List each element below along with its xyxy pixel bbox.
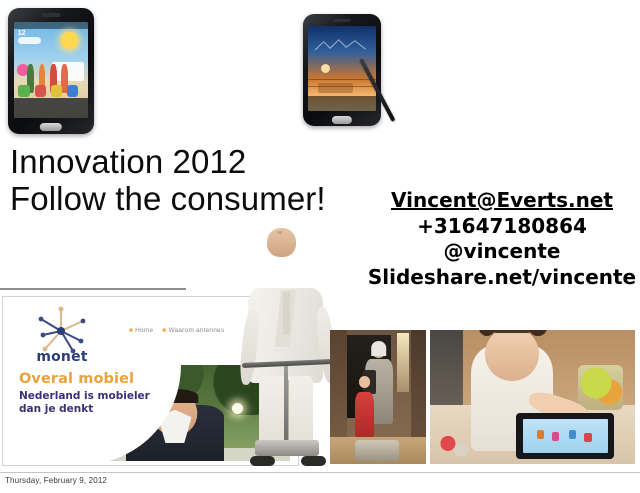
letter-tile <box>552 432 560 441</box>
phone-body: 12 <box>8 8 94 134</box>
man-on-segway-cutout <box>240 228 336 466</box>
nav-item-waarom-antennes-label: Waarom antennes <box>168 327 224 334</box>
samsung-galaxy-s2-image: 12 <box>8 8 94 134</box>
app-icon <box>51 85 62 96</box>
contact-block: Vincent@Everts.net +31647180864 @vincent… <box>356 188 640 290</box>
child-figure <box>355 392 374 438</box>
contact-twitter[interactable]: @vincente <box>356 239 640 265</box>
samsung-galaxy-note-image <box>303 14 381 126</box>
app-icon <box>67 85 78 96</box>
app-icon <box>18 85 29 96</box>
monet-headline: Overal mobiel <box>19 371 134 387</box>
sun-shape <box>321 64 330 73</box>
segway-wheel-right <box>301 456 326 466</box>
head-shape <box>359 376 371 388</box>
title-line-2: Follow the consumer! <box>10 180 390 217</box>
window-light <box>397 333 409 392</box>
bullet-icon: ■ <box>162 327 166 334</box>
white-hair <box>371 341 387 355</box>
nav-item-waarom-antennes[interactable]: ■Waarom antennes <box>162 327 224 334</box>
footer-divider <box>0 472 640 473</box>
head-shape <box>485 330 539 381</box>
segway-platform <box>255 440 318 457</box>
nav-item-home[interactable]: ■Home <box>129 327 155 334</box>
wallpaper-beach: 12 <box>14 22 88 118</box>
app-dock <box>308 96 375 111</box>
title-line-1: Innovation 2012 <box>10 143 390 180</box>
toy-object <box>578 365 623 411</box>
segway-stem <box>284 366 288 442</box>
app-icon <box>35 85 46 96</box>
cloud-shape <box>18 37 40 44</box>
monet-brand-text: monet <box>27 349 97 365</box>
photo-man-child-segway <box>330 330 426 464</box>
contact-slideshare[interactable]: Slideshare.net/vincente <box>356 265 640 291</box>
footer-date: Thursday, February 9, 2012 <box>5 476 107 485</box>
letter-tile <box>537 430 545 439</box>
sketch-scribble <box>314 37 368 56</box>
letter-tile <box>569 430 577 439</box>
phone-speaker <box>42 13 61 16</box>
contact-email[interactable]: Vincent@Everts.net <box>356 188 640 214</box>
segway-wheel-left <box>250 456 275 466</box>
photo-toddler-ipad <box>430 330 635 464</box>
ipad-device <box>516 413 614 459</box>
ipad-screen <box>523 419 608 454</box>
hair-shape <box>492 330 532 333</box>
clock-widget: 12 <box>18 30 26 37</box>
home-button <box>40 123 62 131</box>
monet-nav: ■Home ■Waarom antennes <box>129 327 231 334</box>
face-shadow <box>277 231 282 234</box>
presentation-slide: 12 <box>0 0 640 493</box>
bullet-icon: ■ <box>129 327 133 334</box>
phone-speaker <box>333 19 350 22</box>
sun-shape <box>61 32 77 48</box>
segway-shape <box>355 440 399 461</box>
phone-screen: 12 <box>14 22 88 118</box>
scattered-items <box>438 435 471 456</box>
nav-item-home-label: Home <box>135 327 153 334</box>
letter-tile <box>584 433 592 442</box>
monet-subhead: Nederland is mobieler dan je denkt <box>19 390 169 416</box>
horizontal-divider <box>0 288 186 290</box>
handwriting-block <box>318 83 353 93</box>
app-dock <box>14 98 88 117</box>
home-button <box>332 116 352 123</box>
contact-phone[interactable]: +31647180864 <box>356 214 640 240</box>
status-bar <box>14 22 88 29</box>
head-shape <box>267 228 296 257</box>
dark-corner <box>430 330 463 413</box>
tie-shape <box>283 292 290 335</box>
horizon-line <box>308 79 375 80</box>
page-title: Innovation 2012 Follow the consumer! <box>10 143 390 217</box>
